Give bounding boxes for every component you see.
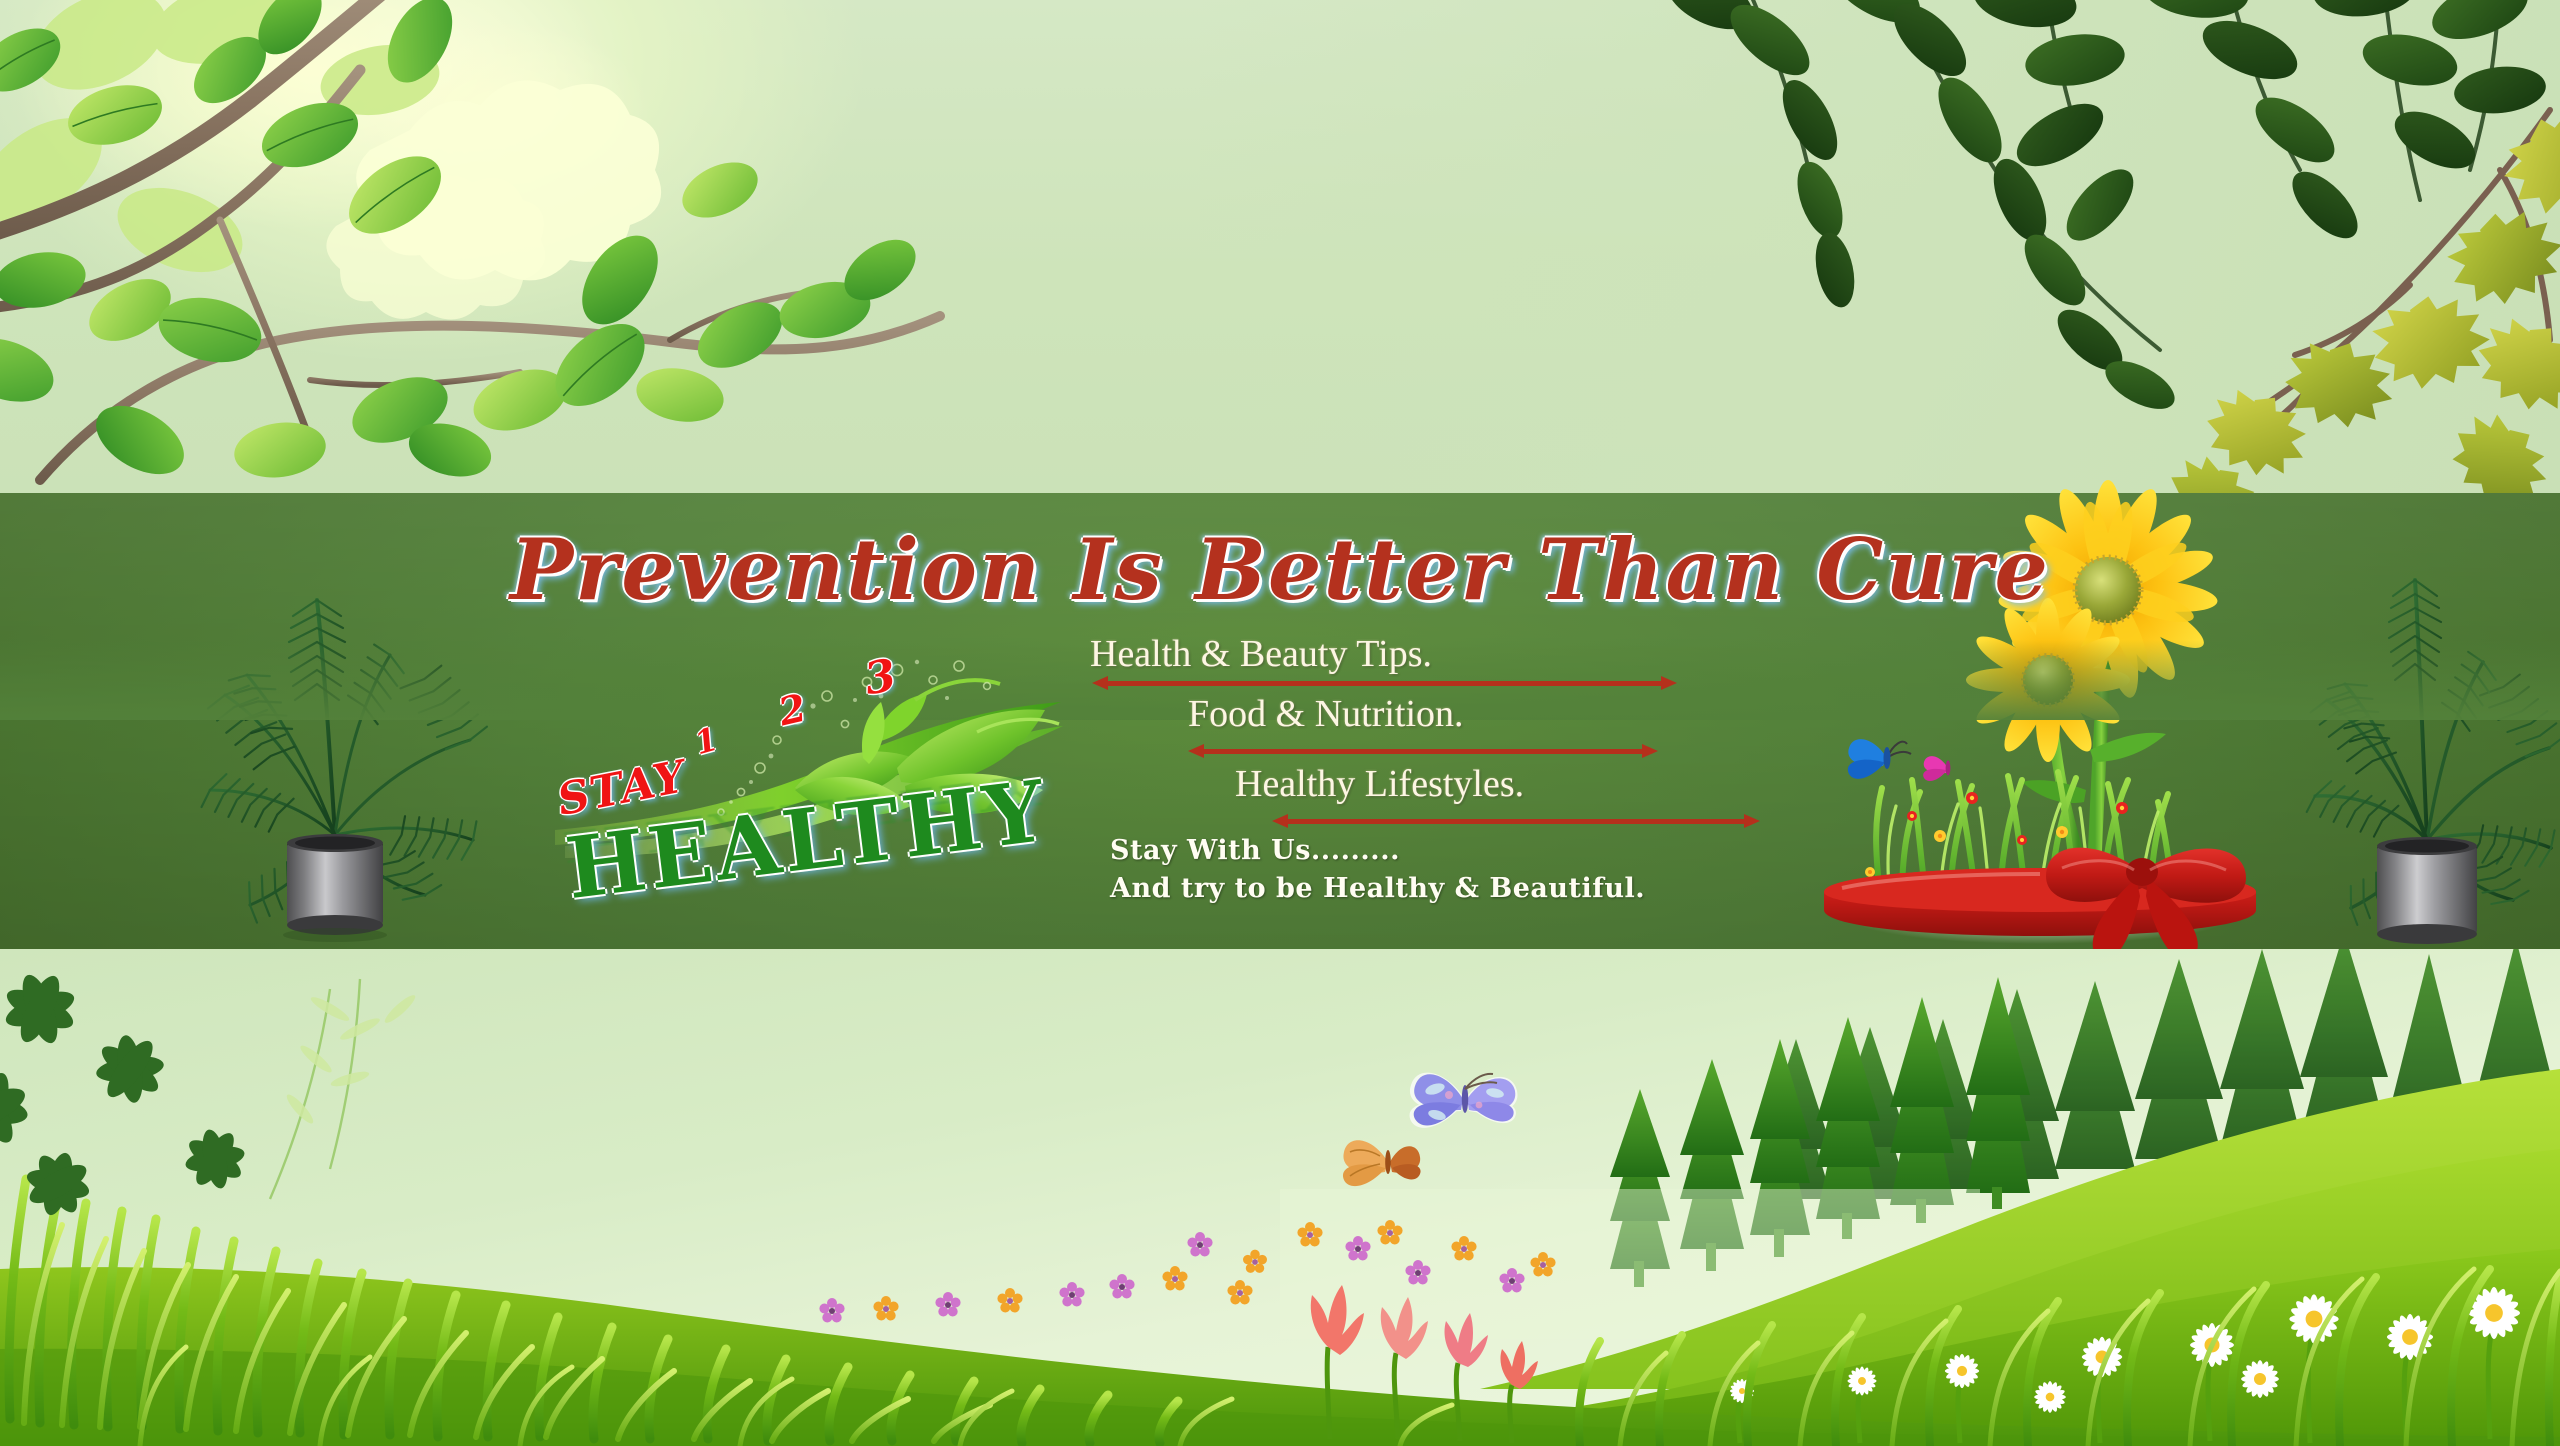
arrow-head-right-icon [1744, 814, 1760, 828]
arrow-bar [1102, 681, 1667, 686]
purple-butterfly-icon [1410, 1073, 1518, 1128]
arrow-head-right-icon [1661, 676, 1677, 690]
arrow-bar [1282, 819, 1750, 824]
pink-butterfly-icon [1923, 756, 1950, 781]
closing-line-1: Stay With Us......... [1110, 832, 1830, 870]
holly-leaf-branch-icon [2080, 100, 2560, 520]
meadow-scene [0, 949, 2560, 1446]
tagline-health-beauty-tips: Health & Beauty Tips. [1090, 632, 1432, 676]
tagline-arrow-2 [1188, 744, 1658, 758]
potted-palm-plant-right-icon [2305, 500, 2555, 948]
arrow-head-right-icon [1642, 744, 1658, 758]
tagline-arrow-1 [1092, 676, 1677, 690]
closing-line-2: And try to be Healthy & Beautiful. [1110, 870, 1830, 908]
tagline-list: Health & Beauty Tips. Food & Nutrition. … [1080, 632, 1840, 822]
tagline-arrow-3 [1272, 814, 1760, 828]
arrow-bar [1198, 749, 1648, 754]
blue-butterfly-icon [1848, 739, 1911, 779]
tagline-healthy-lifestyles: Healthy Lifestyles. [1235, 762, 1524, 806]
sunflower-grass-basket-icon [1790, 480, 2270, 960]
leafy-tree-branch-icon [0, 0, 940, 500]
orange-butterfly-icon [1343, 1140, 1421, 1186]
closing-message: Stay With Us......... And try to be Heal… [1110, 832, 1830, 909]
banner-page: Prevention Is Better Than Cure Preventio… [0, 0, 2560, 1446]
tagline-food-nutrition: Food & Nutrition. [1188, 692, 1464, 736]
stay-healthy-logo: 1 2 3 HEALTHY STAY HEALTHY [545, 640, 1065, 940]
potted-palm-plant-left-icon [185, 505, 485, 945]
